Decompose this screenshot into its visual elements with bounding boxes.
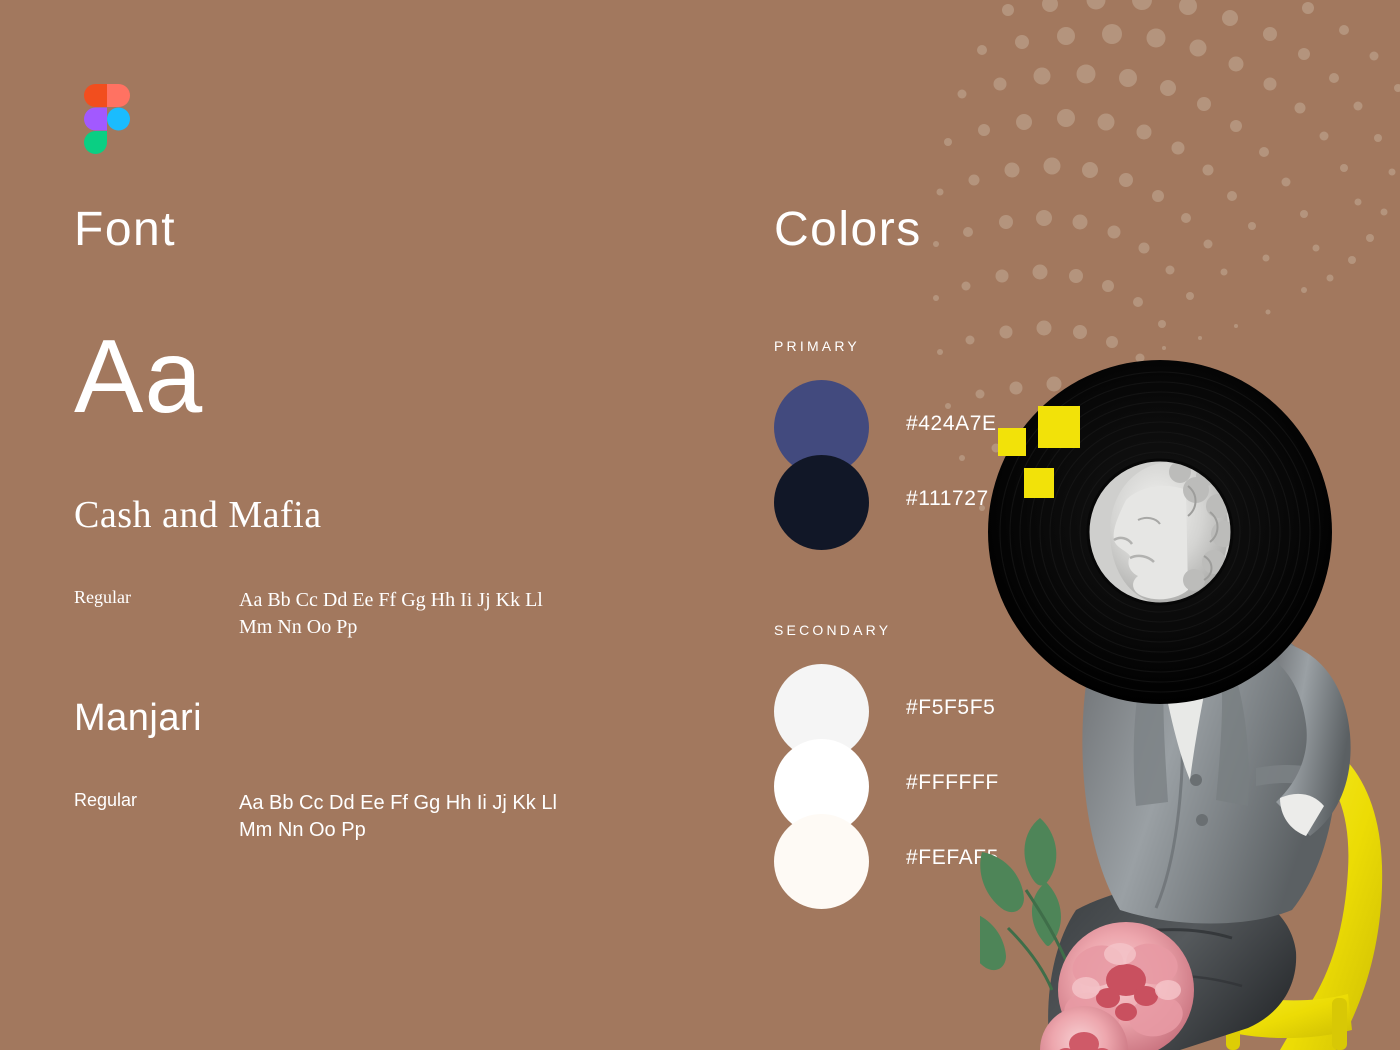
colors-section-heading-wrap: Colors (774, 206, 922, 254)
alphabet-line-2-sans: Mm Nn Oo Pp (239, 817, 557, 844)
alphabet-line-2-serif: Mm Nn Oo Pp (239, 614, 543, 641)
font-section-heading-wrap: Font (74, 206, 176, 254)
figma-logo-icon (84, 84, 130, 154)
style-guide-canvas: Font Aa Cash and Mafia Regular Aa Bb Cc … (0, 0, 1400, 1050)
color-group-label-secondary: SECONDARY (774, 622, 891, 638)
font-family-block-serif: Cash and Mafia Regular Aa Bb Cc Dd Ee Ff… (74, 495, 694, 641)
color-group-primary: PRIMARY #424A7E #111727 (774, 338, 860, 530)
font-family-name-sans: Manjari (74, 698, 694, 740)
alphabet-line-1-sans: Aa Bb Cc Dd Ee Ff Gg Hh Ii Jj Kk Ll (239, 790, 557, 817)
font-family-name-serif: Cash and Mafia (74, 495, 694, 537)
swatch-row[interactable]: #424A7E (774, 380, 860, 455)
font-alphabet-sample-sans: Aa Bb Cc Dd Ee Ff Gg Hh Ii Jj Kk Ll Mm N… (239, 790, 557, 844)
color-hex-label: #111727 (906, 487, 989, 511)
color-swatch-circle[interactable] (774, 814, 869, 909)
font-weight-label-sans: Regular (74, 790, 239, 811)
swatch-stack-secondary: #F5F5F5 #FFFFFF #FEFAF5 (774, 664, 891, 889)
swatch-row[interactable]: #F5F5F5 (774, 664, 891, 739)
swatch-stack-primary: #424A7E #111727 (774, 380, 860, 530)
swatch-row[interactable]: #111727 (774, 455, 860, 530)
font-specimen-aa: Aa (74, 325, 203, 429)
color-group-secondary: SECONDARY #F5F5F5 #FFFFFF #FEFAF5 (774, 622, 891, 889)
font-alphabet-sample-serif: Aa Bb Cc Dd Ee Ff Gg Hh Ii Jj Kk Ll Mm N… (239, 587, 543, 641)
alphabet-line-1-serif: Aa Bb Cc Dd Ee Ff Gg Hh Ii Jj Kk Ll (239, 587, 543, 614)
swatch-row[interactable]: #FFFFFF (774, 739, 891, 814)
rose-leaves (980, 818, 1061, 970)
font-weight-row-serif: Regular Aa Bb Cc Dd Ee Ff Gg Hh Ii Jj Kk… (74, 587, 694, 641)
font-weight-label-serif: Regular (74, 587, 239, 608)
font-section-heading: Font (74, 206, 176, 254)
color-swatch-circle[interactable] (774, 455, 869, 550)
font-weight-row-sans: Regular Aa Bb Cc Dd Ee Ff Gg Hh Ii Jj Kk… (74, 790, 694, 844)
swatch-row[interactable]: #FEFAF5 (774, 814, 891, 889)
font-family-block-sans: Manjari Regular Aa Bb Cc Dd Ee Ff Gg Hh … (74, 698, 694, 844)
collage-artwork (980, 350, 1400, 1050)
colors-section-heading: Colors (774, 206, 922, 254)
color-group-label-primary: PRIMARY (774, 338, 860, 354)
